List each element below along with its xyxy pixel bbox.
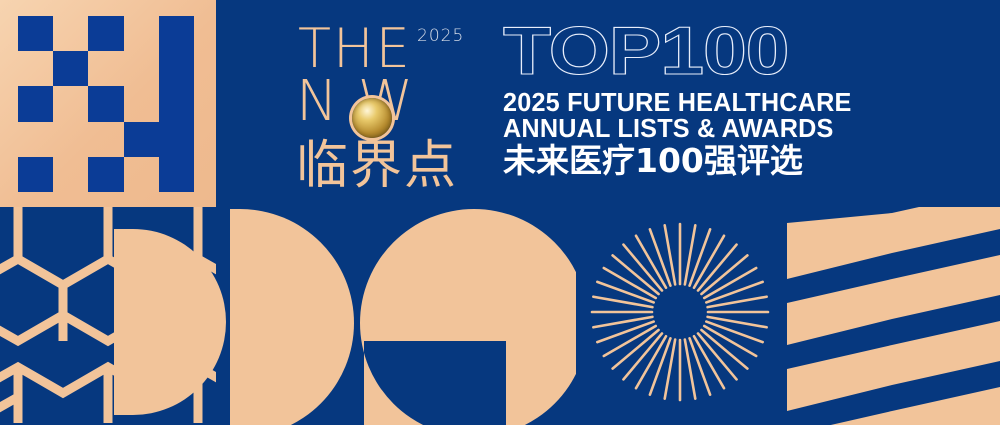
event-banner: THE 2025 N W 临界点 TOP100 2025 FUTURE HEAL… [0,0,1000,425]
diagonal-stripes-pattern [783,207,1000,425]
checker-cell [53,16,88,51]
checkerboard-pattern [18,16,194,192]
checker-cell [159,122,194,157]
headline-top100: TOP100 [503,20,903,83]
checker-cell [88,157,123,192]
checker-cell [124,122,159,157]
checker-cell [18,16,53,51]
title-block: TOP100 2025 FUTURE HEALTHCARE ANNUAL LIS… [503,20,848,179]
checker-cell [53,51,88,86]
checker-cell [124,157,159,192]
checker-cell [124,86,159,121]
checker-cell [53,157,88,192]
subtitle-chinese: 未来医疗100强评选 [503,143,848,179]
checker-cell [18,157,53,192]
checker-cell [18,51,53,86]
checker-cell [88,122,123,157]
subtitle-line-1: 2025 FUTURE HEALTHCARE [503,89,838,116]
checker-cell [18,86,53,121]
checkerboard-panel [0,0,216,207]
checker-cell [53,122,88,157]
checker-cell [124,16,159,51]
checker-cell [124,51,159,86]
semicircle-small [114,229,226,415]
semicircle-large [230,209,354,425]
checker-cell [159,86,194,121]
subtitle-line-2: ANNUAL LISTS & AWARDS [503,115,838,142]
checker-cell [88,16,123,51]
logo-chinese-name: 临界点 [296,140,458,192]
checker-cell [18,122,53,157]
sunburst-pattern [590,222,770,402]
checker-cell [159,16,194,51]
logo-year-superscript: 2025 [417,26,464,46]
checker-cell [53,86,88,121]
gold-orb-icon [352,98,392,138]
notched-circle-shape [360,209,576,425]
logo-word-the: THE [298,22,412,76]
checker-cell [159,51,194,86]
the-now-logo: THE 2025 N W 临界点 [296,22,486,194]
checker-cell [88,51,123,86]
checker-cell [88,86,123,121]
semicircle-shapes [210,207,570,425]
checker-cell [159,157,194,192]
